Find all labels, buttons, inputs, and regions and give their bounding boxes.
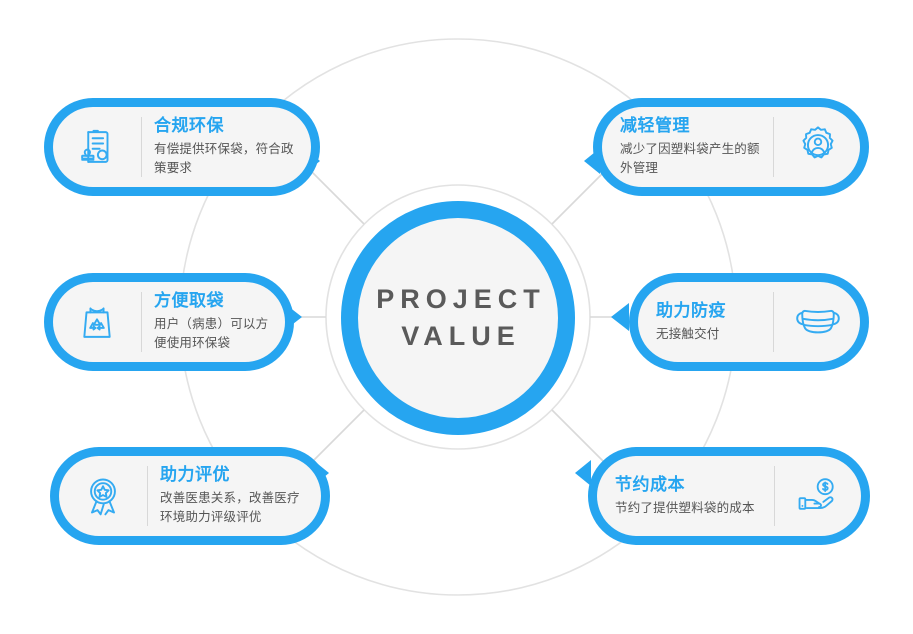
- card-divider: [774, 466, 775, 526]
- award-medal-icon: [71, 464, 135, 528]
- card-compliance[interactable]: 合规环保 有偿提供环保袋，符合政策要求: [44, 98, 320, 196]
- card-compliance-title: 合规环保: [154, 115, 297, 138]
- tail-epidemic: [611, 303, 629, 331]
- card-epidemic[interactable]: 助力防疫 无接触交付: [629, 273, 869, 371]
- card-management-text: 减轻管理 减少了因塑料袋产生的额外管理: [620, 115, 761, 179]
- card-divider: [141, 292, 142, 352]
- card-rating-inner: 助力评优 改善医患关系，改善医疗环境助力评级评优: [59, 456, 321, 536]
- document-stamp-icon: [65, 115, 129, 179]
- card-management-inner: 减轻管理 减少了因塑料袋产生的额外管理: [602, 107, 860, 187]
- center-hub: PROJECT VALUE: [341, 201, 575, 435]
- card-divider: [773, 117, 774, 177]
- hand-coin-icon: [787, 464, 851, 528]
- card-cost[interactable]: 节约成本 节约了提供塑料袋的成本: [588, 447, 870, 545]
- tail-cost: [575, 460, 591, 486]
- card-rating-text: 助力评优 改善医患关系，改善医疗环境助力评级评优: [160, 464, 307, 528]
- recycle-bag-icon: [65, 290, 129, 354]
- card-management-title: 减轻管理: [620, 115, 761, 138]
- card-compliance-inner: 合规环保 有偿提供环保袋，符合政策要求: [53, 107, 311, 187]
- card-cost-title: 节约成本: [615, 474, 762, 497]
- diagram-canvas: PROJECT VALUE 合规环: [0, 0, 913, 634]
- card-convenience[interactable]: 方便取袋 用户（病患）可以方便使用环保袋: [44, 273, 294, 371]
- gear-user-icon: [786, 115, 850, 179]
- card-rating-desc: 改善医患关系，改善医疗环境助力评级评优: [160, 489, 307, 528]
- card-convenience-title: 方便取袋: [154, 290, 271, 313]
- card-convenience-inner: 方便取袋 用户（病患）可以方便使用环保袋: [53, 282, 285, 362]
- card-convenience-desc: 用户（病患）可以方便使用环保袋: [154, 315, 271, 354]
- card-compliance-text: 合规环保 有偿提供环保袋，符合政策要求: [154, 115, 297, 179]
- card-rating[interactable]: 助力评优 改善医患关系，改善医疗环境助力评级评优: [50, 447, 330, 545]
- card-convenience-text: 方便取袋 用户（病患）可以方便使用环保袋: [154, 290, 271, 354]
- card-divider: [141, 117, 142, 177]
- card-epidemic-desc: 无接触交付: [656, 325, 761, 344]
- card-management-desc: 减少了因塑料袋产生的额外管理: [620, 140, 761, 179]
- card-divider: [773, 292, 774, 352]
- card-compliance-desc: 有偿提供环保袋，符合政策要求: [154, 140, 297, 179]
- card-cost-desc: 节约了提供塑料袋的成本: [615, 499, 762, 518]
- card-rating-title: 助力评优: [160, 464, 307, 487]
- card-management[interactable]: 减轻管理 减少了因塑料袋产生的额外管理: [593, 98, 869, 196]
- center-title-line2: VALUE: [395, 318, 521, 355]
- card-cost-text: 节约成本 节约了提供塑料袋的成本: [615, 474, 762, 518]
- face-mask-icon: [786, 290, 850, 354]
- card-cost-inner: 节约成本 节约了提供塑料袋的成本: [597, 456, 861, 536]
- card-epidemic-title: 助力防疫: [656, 300, 761, 323]
- card-divider: [147, 466, 148, 526]
- center-title-line1: PROJECT: [370, 281, 546, 318]
- card-epidemic-text: 助力防疫 无接触交付: [656, 300, 761, 344]
- card-epidemic-inner: 助力防疫 无接触交付: [638, 282, 860, 362]
